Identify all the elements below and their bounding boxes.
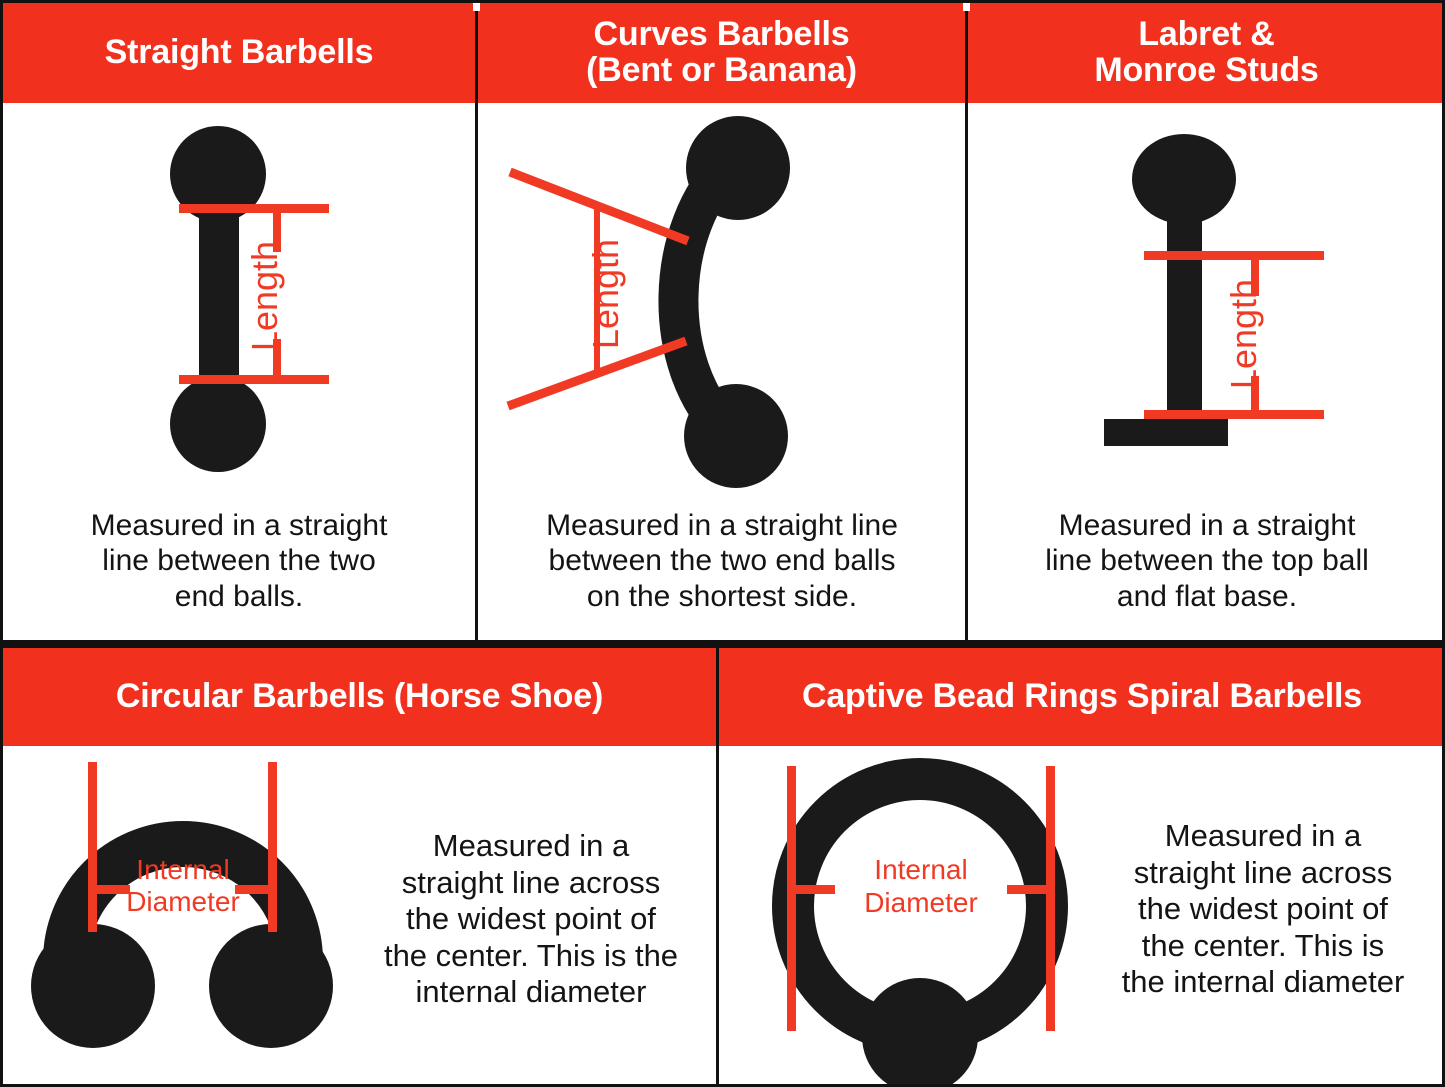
caption-labret-monroe-studs: Measured in a straight line between the … <box>982 508 1432 614</box>
divider-horizontal-main <box>3 640 1442 648</box>
svg-text:Length: Length <box>585 239 626 349</box>
svg-text:Length: Length <box>244 241 285 351</box>
header-gap-2 <box>963 3 970 11</box>
panel-title-captive-bead-rings: Captive Bead Rings Spiral Barbells <box>719 648 1445 746</box>
panel-labret-monroe-studs: Labret & Monroe Studs Length <box>968 3 1445 640</box>
panel-title-curves-barbells: Curves Barbells (Bent or Banana) <box>478 3 965 103</box>
panel-title-straight-barbells: Straight Barbells <box>3 3 475 103</box>
svg-text:Diameter: Diameter <box>126 886 240 917</box>
divider-vertical-2 <box>965 3 968 640</box>
caption-straight-barbells: Measured in a straight line between the … <box>21 508 457 614</box>
svg-text:Length: Length <box>1223 279 1264 389</box>
captive-bead-ring-diagram: Internal Diameter <box>739 746 1099 1087</box>
caption-captive-bead-rings: Measured in a straight line across the w… <box>1089 818 1437 1001</box>
caption-curves-barbells: Measured in a straight line between the … <box>488 508 956 614</box>
straight-barbell-diagram: Length <box>3 106 475 496</box>
horseshoe-barbell-diagram: Internal Diameter <box>3 746 363 1087</box>
svg-text:Internal: Internal <box>874 854 967 885</box>
svg-text:Diameter: Diameter <box>864 887 978 918</box>
divider-vertical-3 <box>716 648 719 1087</box>
piercing-size-guide-infographic: Straight Barbells Length <box>0 0 1445 1087</box>
curved-barbell-diagram: Length <box>478 106 965 496</box>
panel-title-circular-barbells: Circular Barbells (Horse Shoe) <box>3 648 716 746</box>
panel-straight-barbells: Straight Barbells Length <box>3 3 475 640</box>
header-gap-1 <box>473 3 480 11</box>
panel-curves-barbells: Curves Barbells (Bent or Banana) Length … <box>478 3 965 640</box>
labret-stud-diagram: Length <box>968 106 1445 496</box>
caption-circular-barbells: Measured in a straight line across the w… <box>355 828 707 1011</box>
panel-title-labret-monroe-studs: Labret & Monroe Studs <box>968 3 1445 103</box>
svg-text:Internal: Internal <box>136 854 229 885</box>
panel-captive-bead-rings: Captive Bead Rings Spiral Barbells Inter… <box>719 648 1445 1087</box>
panel-circular-barbells: Circular Barbells (Horse Shoe) Internal <box>3 648 716 1087</box>
divider-vertical-1 <box>475 3 478 640</box>
